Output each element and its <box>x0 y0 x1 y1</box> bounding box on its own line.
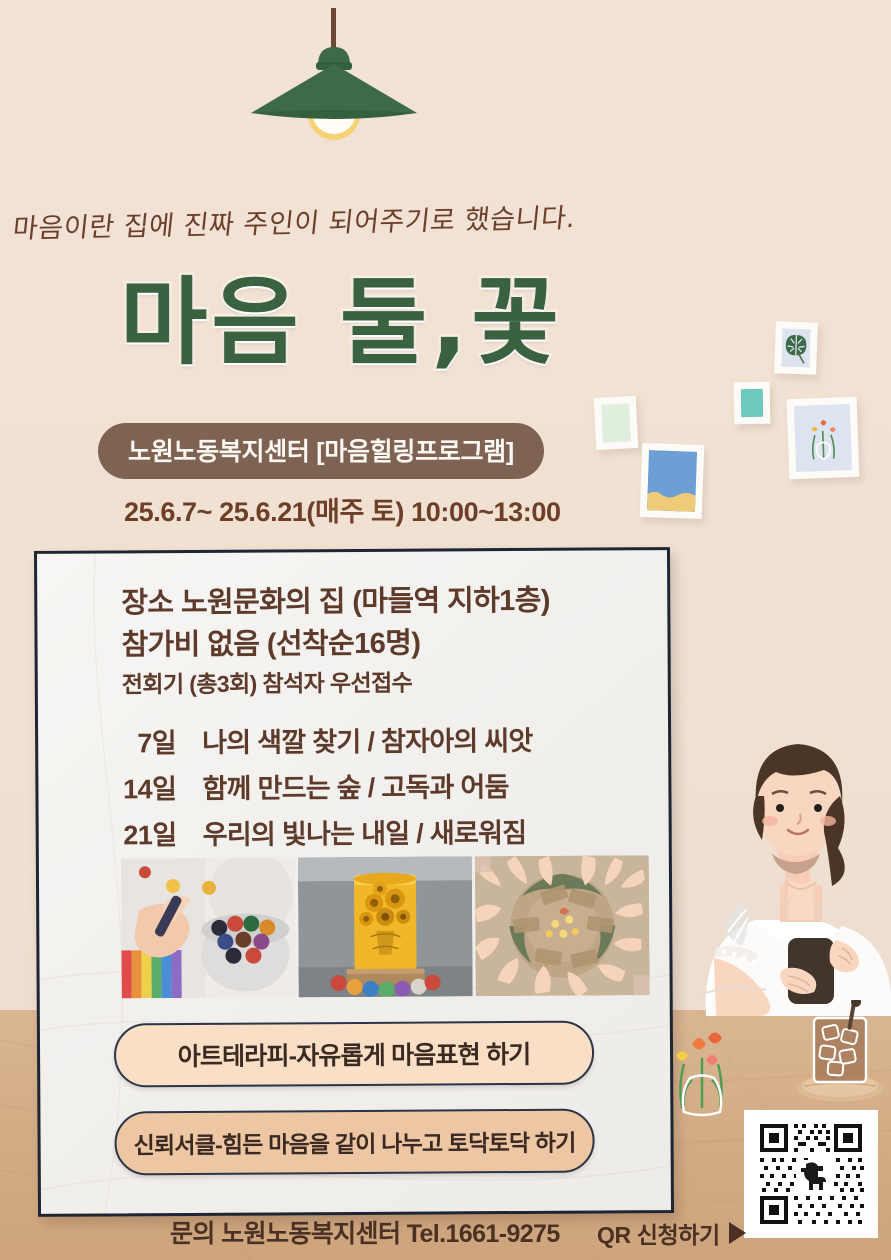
pill-label: 아트테라피-자유롭게 마음표현 하기 <box>178 1035 531 1073</box>
pill-label: 신뢰서클-힘든 마음을 같이 나누고 토닥토닥 하기 <box>133 1124 575 1161</box>
beach-illustration <box>647 450 697 512</box>
date-time-line: 25.6.7~ 25.6.21(매주 토) 10:00~13:00 <box>124 490 561 529</box>
woman-with-phone-illustration <box>676 726 891 1016</box>
qr-apply-label-group[interactable]: QR 신청하기 <box>597 1216 746 1250</box>
info-card: 장소 노원문화의 집 (마들역 지하1층) 참가비 없음 (선착순16명) 전회… <box>34 547 674 1217</box>
frame-teal-mat <box>741 389 763 417</box>
schedule-day: 14일 <box>100 767 176 806</box>
page-title: 마음 둘,꽃 <box>120 276 563 371</box>
schedule-day: 7일 <box>100 721 176 760</box>
tulip-vase-picture-icon <box>794 404 852 472</box>
schedule-row: 7일 나의 색깔 찾기 / 참자아의 씨앗 <box>100 718 620 760</box>
iced-coffee-icon <box>790 1000 890 1110</box>
tulip-vase-icon <box>662 1018 742 1128</box>
frame-beach-mat <box>647 450 697 512</box>
program-pill-art-therapy[interactable]: 아트테라피-자유롭게 마음표현 하기 <box>114 1021 594 1088</box>
frame-green-mat <box>601 403 631 442</box>
schedule-title: 나의 색깔 찾기 / 참자아의 씨앗 <box>202 719 533 760</box>
schedule-row: 21일 우리의 빛나는 내일 / 새로워짐 <box>101 810 621 852</box>
monstera-leaf-icon <box>781 329 810 368</box>
schedule-list: 7일 나의 색깔 찾기 / 참자아의 씨앗 14일 함께 만드는 숲 / 고독과… <box>100 718 621 859</box>
poster-root: 마음이란 집에 진짜 주인이 되어주기로 했습니다. 마음 둘,꽃 노원노동복지… <box>0 0 891 1260</box>
schedule-title: 우리의 빛나는 내일 / 새로워짐 <box>203 811 527 852</box>
frame-green-swatch <box>594 396 639 450</box>
crayon-drawing-photo <box>121 857 296 998</box>
frame-monstera-mat <box>781 329 810 368</box>
qr-apply-label: QR 신청하기 <box>597 1216 720 1250</box>
photo-strip <box>121 855 650 998</box>
frame-teal-swatch <box>734 382 771 425</box>
place-line: 장소 노원문화의 집 (마들역 지하1층) <box>121 577 550 622</box>
right-triangle-icon <box>729 1222 746 1244</box>
schedule-title: 함께 만드는 숲 / 고독과 어둠 <box>202 765 509 806</box>
note-line: 전회기 (총3회) 참석자 우선접수 <box>122 664 413 700</box>
program-pill-trust-circle[interactable]: 신뢰서클-힘든 마음을 같이 나누고 토닥토닥 하기 <box>114 1109 594 1176</box>
qr-code-icon[interactable] <box>744 1110 878 1238</box>
frame-monstera-leaf <box>774 321 818 374</box>
hands-circle-photo <box>475 855 650 996</box>
contact-info: 문의 노원노동복지센터 Tel.1661-9275 <box>170 1214 560 1250</box>
frame-beach-photo <box>640 443 705 519</box>
schedule-day: 21일 <box>101 813 177 852</box>
organizer-badge: 노원노동복지센터 [마음힐링프로그램] <box>98 423 544 479</box>
frame-tulip-mat <box>794 404 852 472</box>
pendant-lamp-icon <box>246 8 426 158</box>
fee-line: 참가비 없음 (선착순16명) <box>121 620 420 664</box>
sunflower-lamp-photo <box>298 856 473 997</box>
schedule-row: 14일 함께 만드는 숲 / 고독과 어둠 <box>100 764 620 806</box>
frame-tulip-vase <box>787 397 860 479</box>
